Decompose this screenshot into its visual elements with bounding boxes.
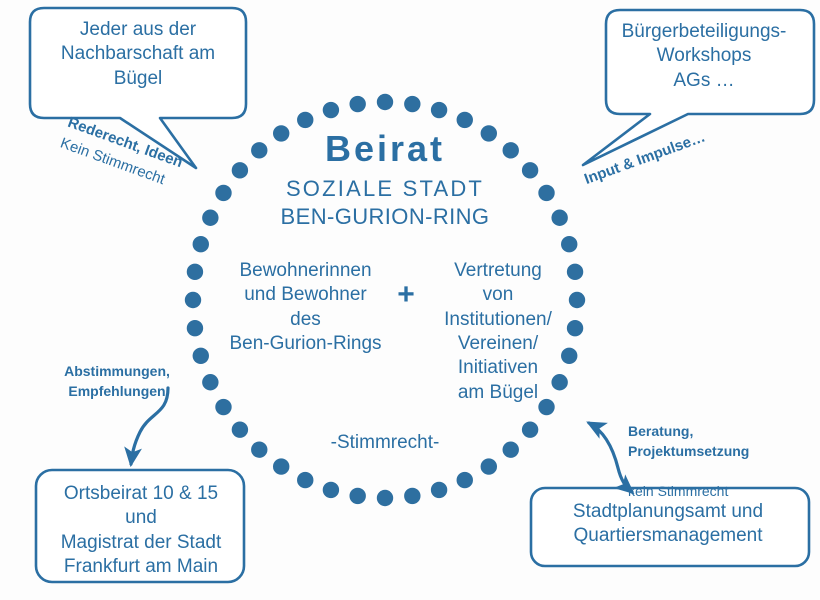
plus-sign: + — [393, 276, 419, 314]
ring-dot — [377, 490, 393, 506]
ring-subtitle-soziale-stadt: SOZIALE STADT — [235, 175, 535, 203]
ring-left-column: Bewohnerinnen und Bewohner des Ben-Gurio… — [218, 259, 393, 356]
bubble-top-left-text: Jeder aus der Nachbarschaft am Bügel — [34, 18, 242, 91]
caption-abstimmungen: Abstimmungen, Empfehlungen — [42, 362, 192, 401]
ring-dot — [187, 320, 203, 336]
ring-dot — [551, 210, 567, 226]
ring-dot — [503, 441, 519, 457]
ring-dot — [273, 458, 289, 474]
ring-right-column: Vertretung von Institutionen/ Vereinen/ … — [423, 259, 573, 405]
ring-title: Beirat — [235, 126, 535, 172]
ring-dot — [323, 482, 339, 498]
ring-dot — [202, 374, 218, 390]
ring-dot — [323, 102, 339, 118]
ring-dot — [297, 472, 313, 488]
ring-dot — [431, 102, 447, 118]
diagram-canvas: Jeder aus der Nachbarschaft am Bügel Bür… — [0, 0, 820, 600]
ring-subtitle-ben-gurion-ring: BEN-GURION-RING — [235, 203, 535, 231]
ring-dot — [232, 421, 248, 437]
ring-dot — [538, 185, 554, 201]
ring-dot — [404, 96, 420, 112]
arrow-beratung — [589, 423, 632, 492]
ring-dot — [187, 264, 203, 280]
ring-dot — [377, 94, 393, 110]
ring-dot — [202, 210, 218, 226]
ring-dot — [481, 458, 497, 474]
ring-dot — [349, 96, 365, 112]
box-bottom-right-text: Stadtplanungsamt und Quartiersmanagement — [532, 500, 804, 549]
caption-beratung-normal: kein Stimmrecht — [628, 482, 788, 502]
ring-footer-stimmrecht: -Stimmrecht- — [300, 431, 470, 455]
ring-dot — [215, 185, 231, 201]
ring-dot — [185, 292, 201, 308]
bubble-top-right-text: Bürgerbeteiligungs- Workshops AGs … — [600, 20, 808, 93]
ring-dot — [349, 488, 365, 504]
ring-dot — [193, 348, 209, 364]
ring-dot — [457, 472, 473, 488]
ring-dot — [251, 441, 267, 457]
ring-dot — [431, 482, 447, 498]
box-bottom-left-text: Ortsbeirat 10 & 15 und Magistrat der Sta… — [36, 482, 246, 579]
ring-dot — [193, 236, 209, 252]
ring-dot — [522, 421, 538, 437]
ring-dot — [404, 488, 420, 504]
ring-dot — [215, 399, 231, 415]
caption-beratung-bold: Beratung, Projektumsetzung — [628, 422, 788, 462]
ring-dot — [561, 236, 577, 252]
